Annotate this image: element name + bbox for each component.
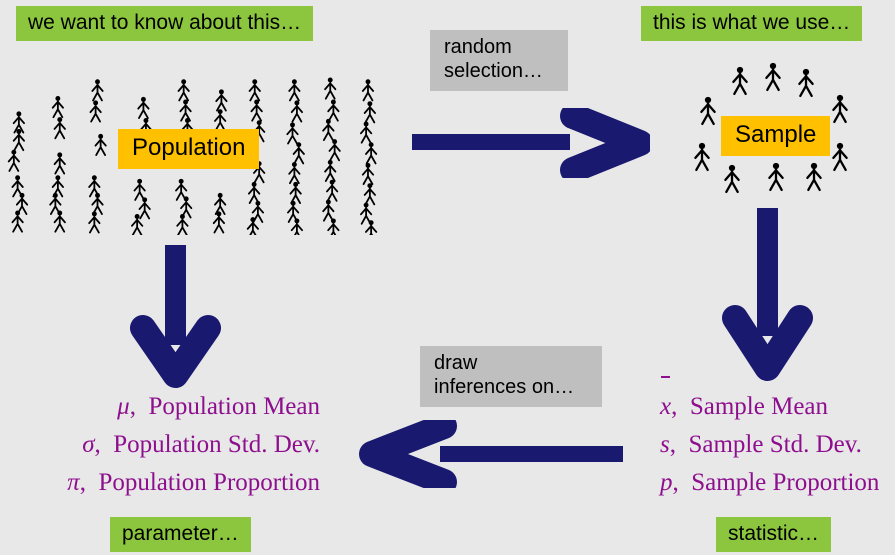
arrow-random-selection-right	[405, 108, 650, 178]
statistic-row: s, Sample Std. Dev.	[660, 426, 895, 464]
label-we-want-to-know: we want to know about this…	[16, 6, 313, 41]
statistic-symbol: x	[660, 393, 671, 420]
statistic-symbol: s	[660, 431, 670, 458]
comma: ,	[95, 431, 101, 458]
comma: ,	[670, 431, 676, 458]
label-this-is-what-we-use: this is what we use…	[641, 6, 862, 41]
label-draw-inferences: draw inferences on…	[420, 346, 602, 407]
parameter-row: μ, Population Mean	[0, 388, 320, 426]
comma: ,	[671, 393, 677, 420]
comma: ,	[130, 393, 136, 420]
arrow-inference-left	[352, 420, 627, 488]
label-random-selection: random selection…	[430, 30, 568, 91]
parameter-row: σ, Population Std. Dev.	[0, 426, 320, 464]
parameter-symbol: σ	[82, 431, 94, 458]
statistic-symbol: p	[660, 469, 673, 496]
population-parameters-list: μ, Population Mean σ, Population Std. De…	[0, 388, 320, 502]
arrow-sample-down	[722, 208, 814, 383]
parameter-name: Population Std. Dev.	[113, 431, 320, 458]
label-parameter: parameter…	[110, 517, 251, 552]
parameter-name: Population Proportion	[98, 469, 320, 496]
sample-statistics-list: x, Sample Mean s, Sample Std. Dev. p, Sa…	[660, 388, 895, 502]
parameter-name: Population Mean	[148, 393, 320, 420]
comma: ,	[673, 469, 679, 496]
sample-box: Sample	[721, 116, 830, 156]
statistic-row: x, Sample Mean	[660, 388, 895, 426]
population-box: Population	[118, 129, 259, 169]
arrow-population-down	[130, 245, 222, 390]
statistic-row: p, Sample Proportion	[660, 464, 895, 502]
parameter-symbol: π	[67, 469, 80, 496]
diagram-canvas: we want to know about this… Population r…	[0, 0, 895, 555]
statistic-name: Sample Proportion	[691, 469, 879, 496]
parameter-row: π, Population Proportion	[0, 464, 320, 502]
statistic-name: Sample Std. Dev.	[688, 431, 861, 458]
statistic-name: Sample Mean	[690, 393, 828, 420]
parameter-symbol: μ	[117, 393, 130, 420]
comma: ,	[80, 469, 86, 496]
overbar	[661, 376, 670, 378]
label-statistic: statistic…	[716, 517, 831, 552]
